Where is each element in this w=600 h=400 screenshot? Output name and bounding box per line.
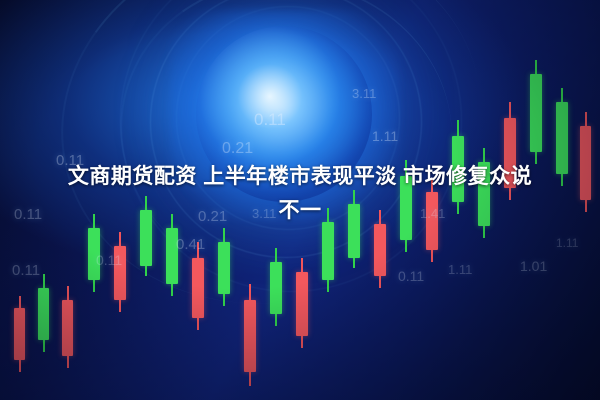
headline-text: 文商期货配资 上半年楼市表现平淡 市场修复众说 不一 <box>0 160 600 228</box>
headline-line-1: 文商期货配资 上半年楼市表现平淡 市场修复众说 <box>14 160 586 194</box>
image-canvas: 0.113.111.110.210.110.110.213.111.410.41… <box>0 0 600 400</box>
headline-line-2: 不一 <box>14 194 586 228</box>
